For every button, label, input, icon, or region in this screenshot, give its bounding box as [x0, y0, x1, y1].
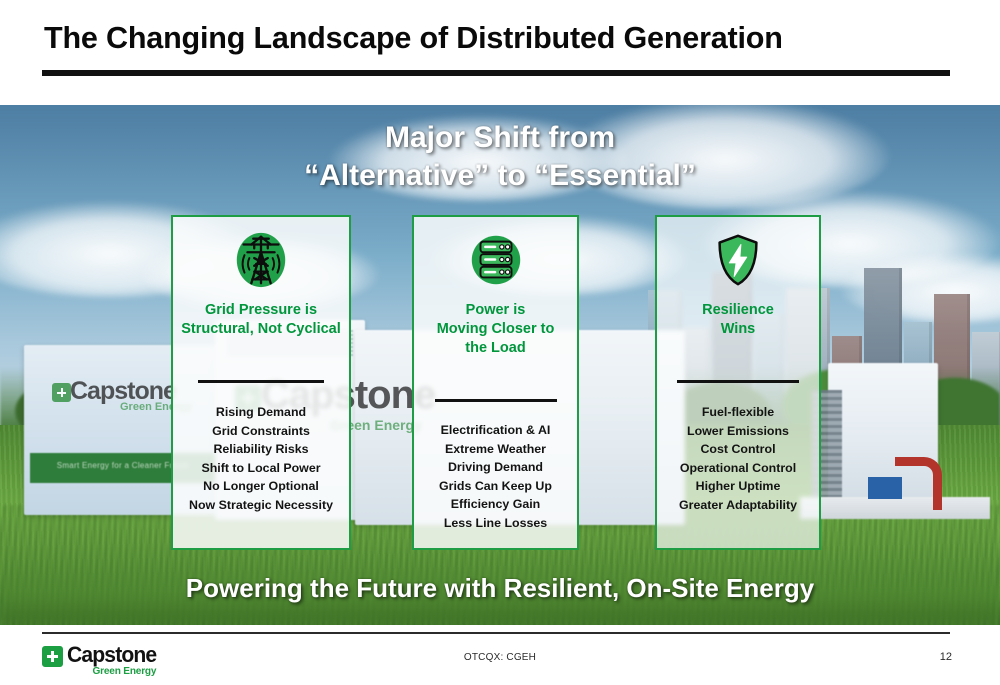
- server-stack-icon: [465, 229, 527, 291]
- list-item: Electrification & AI: [417, 421, 574, 440]
- list-item: Now Strategic Necessity: [176, 496, 346, 515]
- background-photo: Smart Energy for a Cleaner Future Capsto…: [0, 105, 1000, 625]
- slide-footer: Capstone Green Energy OTCQX: CGEH 12: [0, 625, 1000, 685]
- list-item: Grid Constraints: [176, 422, 346, 441]
- list-item: Cost Control: [660, 440, 816, 459]
- card-heading-line: the Load: [418, 339, 573, 358]
- card-heading: Resilience Wins: [661, 301, 815, 339]
- card-heading: Grid Pressure is Structural, Not Cyclica…: [177, 301, 345, 339]
- list-item: Driving Demand: [417, 458, 574, 477]
- card-divider: [435, 399, 557, 402]
- headline-line-2: “Alternative” to “Essential”: [0, 157, 1000, 195]
- page-number: 12: [940, 651, 952, 663]
- card-resilience-wins[interactable]: Resilience Wins Fuel-flexible Lower Emis…: [655, 215, 821, 550]
- transmission-tower-icon: [230, 229, 292, 291]
- list-item: Lower Emissions: [660, 422, 816, 441]
- logo-tagline: Green Energy: [67, 665, 156, 677]
- card-heading-line: Structural, Not Cyclical: [177, 320, 345, 339]
- slide-title-bar: The Changing Landscape of Distributed Ge…: [0, 0, 1000, 105]
- list-item: Fuel-flexible: [660, 403, 816, 422]
- card-divider: [198, 380, 324, 383]
- card-heading-line: Resilience: [661, 301, 815, 320]
- list-item: Extreme Weather: [417, 440, 574, 459]
- list-item: Shift to Local Power: [176, 459, 346, 478]
- list-item: Rising Demand: [176, 403, 346, 422]
- list-item: Operational Control: [660, 459, 816, 478]
- headline: Major Shift from “Alternative” to “Essen…: [0, 119, 1000, 195]
- list-item: Greater Adaptability: [660, 496, 816, 515]
- card-heading-line: Moving Closer to: [418, 320, 573, 339]
- card-divider: [677, 380, 799, 383]
- card-heading: Power is Moving Closer to the Load: [418, 301, 573, 358]
- title-underline-rule: [42, 70, 950, 76]
- footer-divider: [42, 632, 950, 634]
- card-bullet-list: Fuel-flexible Lower Emissions Cost Contr…: [660, 403, 816, 515]
- list-item: Higher Uptime: [660, 477, 816, 496]
- card-heading-line: Grid Pressure is: [177, 301, 345, 320]
- tagline: Powering the Future with Resilient, On-S…: [0, 573, 1000, 604]
- card-grid-pressure[interactable]: Grid Pressure is Structural, Not Cyclica…: [171, 215, 351, 550]
- card-bullet-list: Electrification & AI Extreme Weather Dri…: [417, 421, 574, 533]
- shield-bolt-icon: [707, 229, 769, 291]
- headline-line-1: Major Shift from: [0, 119, 1000, 157]
- card-power-closer-to-load[interactable]: Power is Moving Closer to the Load Elect…: [412, 215, 579, 550]
- card-bullet-list: Rising Demand Grid Constraints Reliabili…: [176, 403, 346, 515]
- card-heading-line: Wins: [661, 320, 815, 339]
- list-item: Less Line Losses: [417, 514, 574, 533]
- list-item: Efficiency Gain: [417, 495, 574, 514]
- list-item: Reliability Risks: [176, 440, 346, 459]
- list-item: No Longer Optional: [176, 477, 346, 496]
- page-title: The Changing Landscape of Distributed Ge…: [44, 20, 783, 56]
- ticker-symbol: OTCQX: CGEH: [0, 652, 1000, 663]
- card-heading-line: Power is: [418, 301, 573, 320]
- list-item: Grids Can Keep Up: [417, 477, 574, 496]
